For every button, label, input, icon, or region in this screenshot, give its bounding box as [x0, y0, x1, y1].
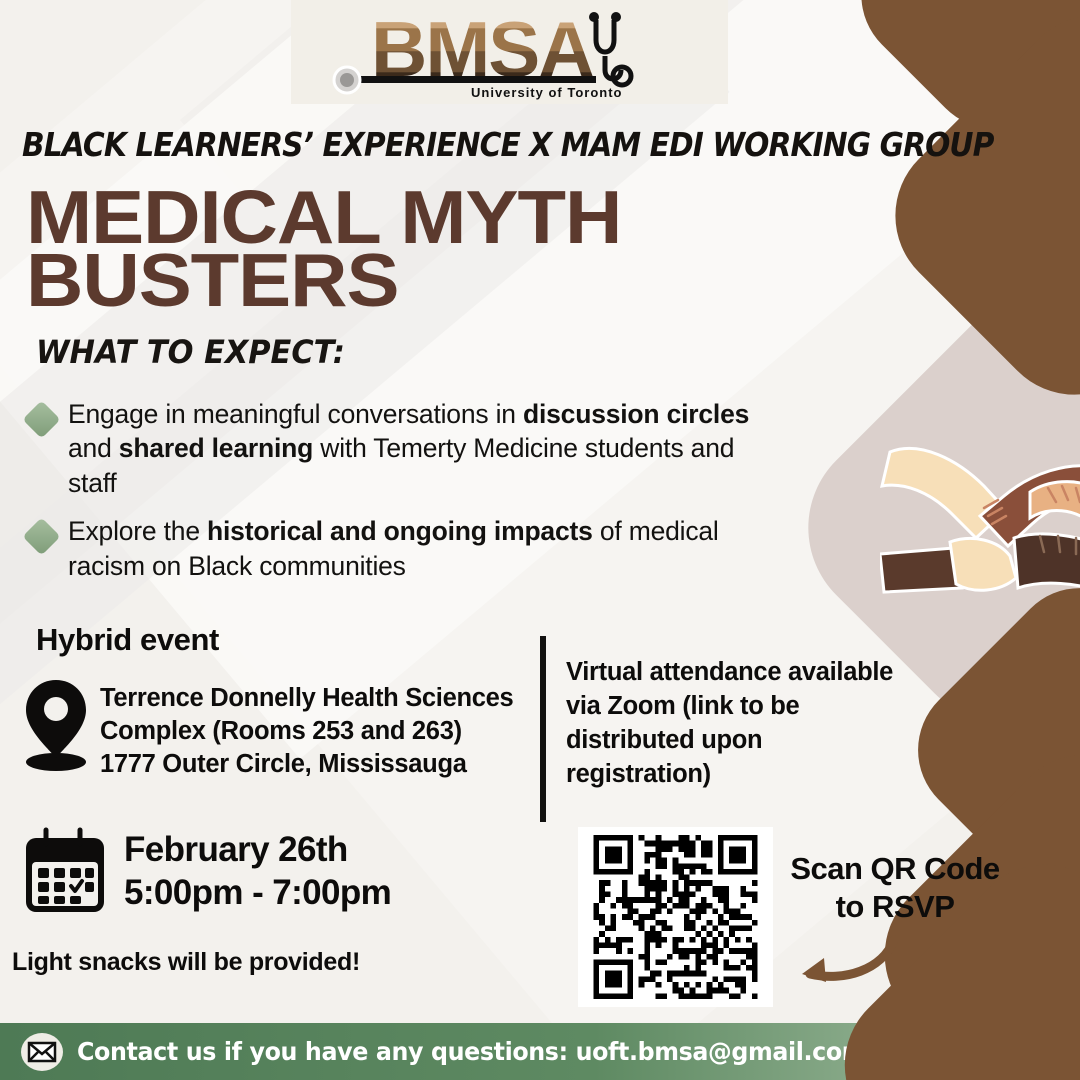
location-address: Terrence Donnelly Health Sciences Comple…	[100, 676, 513, 781]
qr-code-icon	[586, 835, 765, 999]
location-block: Terrence Donnelly Health Sciences Comple…	[20, 676, 513, 781]
footer-contact-text: Contact us if you have any questions: uo…	[77, 1037, 866, 1066]
snacks-note: Light snacks will be provided!	[12, 948, 360, 977]
virtual-line-2: via Zoom (link to be	[566, 690, 936, 724]
diamond-bullet-icon	[22, 518, 60, 556]
kicker-text: BLACK LEARNERS’ EXPERIENCE X MAM EDI WOR…	[22, 125, 832, 164]
date-time-text: February 26th 5:00pm - 7:00pm	[124, 829, 391, 914]
vertical-divider	[540, 636, 546, 822]
poster-canvas: BMSA University of Toronto BLACK LEARNER…	[0, 0, 1080, 1080]
event-date: February 26th	[124, 829, 391, 872]
joined-hands-illustration	[880, 430, 1080, 630]
curved-arrow-left-icon	[790, 930, 900, 990]
bmsa-logo-svg: BMSA University of Toronto	[291, 0, 728, 104]
location-line-1: Terrence Donnelly Health Sciences	[100, 682, 513, 715]
what-to-expect-heading: WHAT TO EXPECT:	[36, 333, 345, 371]
bmsa-logo: BMSA University of Toronto	[291, 0, 728, 104]
envelope-icon	[20, 1032, 64, 1072]
list-item-text: Explore the historical and ongoing impac…	[68, 514, 788, 583]
bmsa-logo-subtitle: University of Toronto	[471, 85, 622, 100]
hybrid-event-label: Hybrid event	[36, 622, 219, 658]
list-item: Engage in meaningful conversations in di…	[28, 397, 788, 500]
calendar-icon	[18, 826, 112, 918]
list-item: Explore the historical and ongoing impac…	[28, 514, 788, 583]
location-line-2: Complex (Rooms 253 and 263)	[100, 715, 513, 748]
event-time: 5:00pm - 7:00pm	[124, 872, 391, 915]
virtual-attendance-note: Virtual attendance available via Zoom (l…	[566, 656, 936, 792]
scan-line-1: Scan QR Code	[780, 850, 1010, 888]
location-line-3: 1777 Outer Circle, Mississauga	[100, 748, 513, 781]
virtual-line-3: distributed upon	[566, 724, 936, 758]
list-item-text: Engage in meaningful conversations in di…	[68, 397, 788, 500]
qr-code[interactable]	[578, 827, 773, 1007]
expect-bullet-list: Engage in meaningful conversations in di…	[28, 397, 788, 597]
diamond-bullet-icon	[22, 400, 60, 438]
page-title: MEDICAL MYTH BUSTERS	[26, 186, 768, 312]
virtual-line-1: Virtual attendance available	[566, 656, 936, 690]
map-pin-icon	[20, 676, 92, 772]
date-time-block: February 26th 5:00pm - 7:00pm	[18, 826, 391, 918]
virtual-line-4: registration)	[566, 758, 936, 792]
title-line-2: BUSTERS	[26, 249, 768, 312]
